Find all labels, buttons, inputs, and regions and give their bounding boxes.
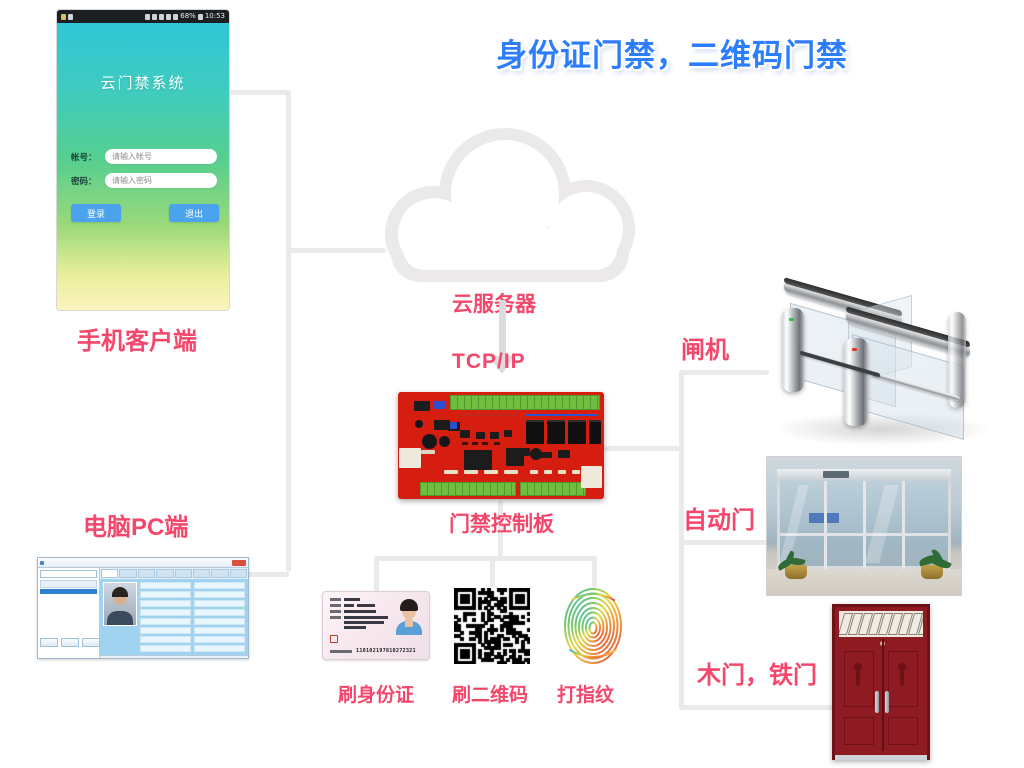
connector-to-idcard [374,556,379,592]
pc-list-header [40,580,97,588]
battery-icon [198,14,203,20]
bluetooth-icon [145,14,150,20]
pc-form-field[interactable] [140,609,191,616]
connector-credentials-bus [374,556,596,561]
connector-to-qr [490,556,495,588]
signal-icon [173,14,178,20]
phone-mockup: 68% 10:53 云门禁系统 帐号： 请输入帐号 密码： 请输入密码 登录 退… [57,10,229,310]
pc-tab-0[interactable] [101,569,118,578]
fingerprint-caption: 打指纹 [557,680,614,707]
door-grille [839,611,923,637]
phone-caption: 手机客户端 [77,321,197,356]
pc-form-field[interactable] [194,609,245,616]
pc-button-1[interactable] [40,638,58,647]
board-caption: 门禁控制板 [449,508,554,538]
id-number-row: 110102197810272321 [330,648,416,654]
id-portrait [395,599,423,635]
access-control-board [398,392,604,499]
phone-status-bar: 68% 10:53 [57,10,229,23]
pc-form-field[interactable] [194,591,245,598]
page-title: 身份证门禁，二维码门禁 [462,30,882,75]
autodoor-caption: 自动门 [683,500,755,535]
qr-canvas [454,588,530,664]
pc-form-field[interactable] [140,627,191,634]
app-icon [68,14,73,20]
pc-form-field[interactable] [140,600,191,607]
fingerprint-image [562,586,624,666]
phone-button-row: 登录 退出 [71,204,219,222]
connector-to-fingerprint [592,556,597,588]
pc-form-field[interactable] [140,645,191,652]
pc-action-buttons [40,638,100,647]
password-input[interactable]: 请输入密码 [105,173,217,188]
pc-tab-2[interactable] [138,569,155,578]
pc-person-photo [103,582,137,626]
pc-tab-1[interactable] [119,569,136,578]
pc-grid-header [100,656,248,659]
door-sensor-icon [823,471,849,478]
pc-list-row-selected[interactable] [40,589,97,594]
pc-form-field[interactable] [140,618,191,625]
photo-body [107,611,133,625]
pc-form-field[interactable] [194,636,245,643]
qr-code-image [454,588,530,664]
mute-icon [159,14,164,20]
pc-form-field[interactable] [194,645,245,652]
door-handle-right[interactable] [885,691,889,713]
turnstile-caption: 闸机 [681,330,729,365]
pc-form-field[interactable] [140,591,191,598]
id-number: 110102197810272321 [356,648,416,654]
pc-form-column-right [194,582,245,652]
pc-form-field[interactable] [194,600,245,607]
connector-board-right [604,446,684,451]
turnstile-image [762,274,1007,454]
connector-to-autodoor [679,540,769,545]
cloud-icon [385,128,635,288]
pc-tab-strip [100,568,248,579]
pc-app-icon [40,561,44,565]
automatic-door-image [766,456,962,596]
notification-icon [61,14,66,20]
pc-form-panel [100,579,248,655]
connector-trunk-to-cloud [286,248,386,253]
diagram-canvas: 身份证门禁，二维码门禁 68% 10:53 云门禁系统 帐号： 请输入帐号 [0,0,1024,768]
alarm-icon [152,14,157,20]
password-field-row: 密码： 请输入密码 [71,172,217,189]
pc-form-field[interactable] [140,582,191,589]
pc-caption: 电脑PC端 [83,507,188,542]
logout-button[interactable]: 退出 [169,204,219,222]
pc-data-grid[interactable] [100,655,248,659]
pc-search-input[interactable] [40,570,97,578]
status-left-icons [61,14,73,20]
pc-form-column-left [140,582,191,652]
id-emblem-icon [330,635,338,643]
wood-iron-door-image [832,604,930,760]
clock: 10:53 [205,13,225,20]
pc-form-field[interactable] [194,618,245,625]
photo-hair [112,587,128,597]
door-handle-left[interactable] [875,691,879,713]
connector-left-trunk [286,90,291,572]
status-right-icons: 68% 10:53 [145,13,225,20]
pc-tab-3[interactable] [156,569,173,578]
pc-form-field[interactable] [194,627,245,634]
connector-phone-top [229,90,291,95]
id-card-caption: 刷身份证 [338,680,414,707]
connector-to-turnstile [679,370,769,375]
account-input[interactable]: 请输入帐号 [105,149,217,164]
pc-form-field[interactable] [194,582,245,589]
pc-tab-7[interactable] [230,569,247,578]
password-label: 密码： [71,175,105,187]
battery-percent: 68% [180,13,196,20]
cloud-caption: 云服务器 [452,288,536,318]
pc-titlebar [38,558,248,568]
account-label: 帐号： [71,151,105,163]
irondoor-caption: 木门，铁门 [697,655,817,690]
pc-tab-5[interactable] [193,569,210,578]
pc-tab-4[interactable] [175,569,192,578]
account-field-row: 帐号： 请输入帐号 [71,148,217,165]
fingerprint-icon [562,586,624,666]
pc-button-2[interactable] [61,638,79,647]
qr-caption: 刷二维码 [452,680,528,707]
protocol-label: TCP/IP [452,350,526,374]
app-title: 云门禁系统 [57,72,229,93]
pc-form-field[interactable] [140,636,191,643]
login-button[interactable]: 登录 [71,204,121,222]
connector-to-irondoor [679,705,839,710]
pc-button-3[interactable] [82,638,100,647]
pc-close-icon[interactable] [232,560,246,566]
plant-pot-left [785,565,807,579]
pc-content [100,568,248,659]
pc-tab-6[interactable] [211,569,228,578]
id-card-image: 110102197810272321 [322,591,430,660]
wifi-icon [166,14,171,20]
